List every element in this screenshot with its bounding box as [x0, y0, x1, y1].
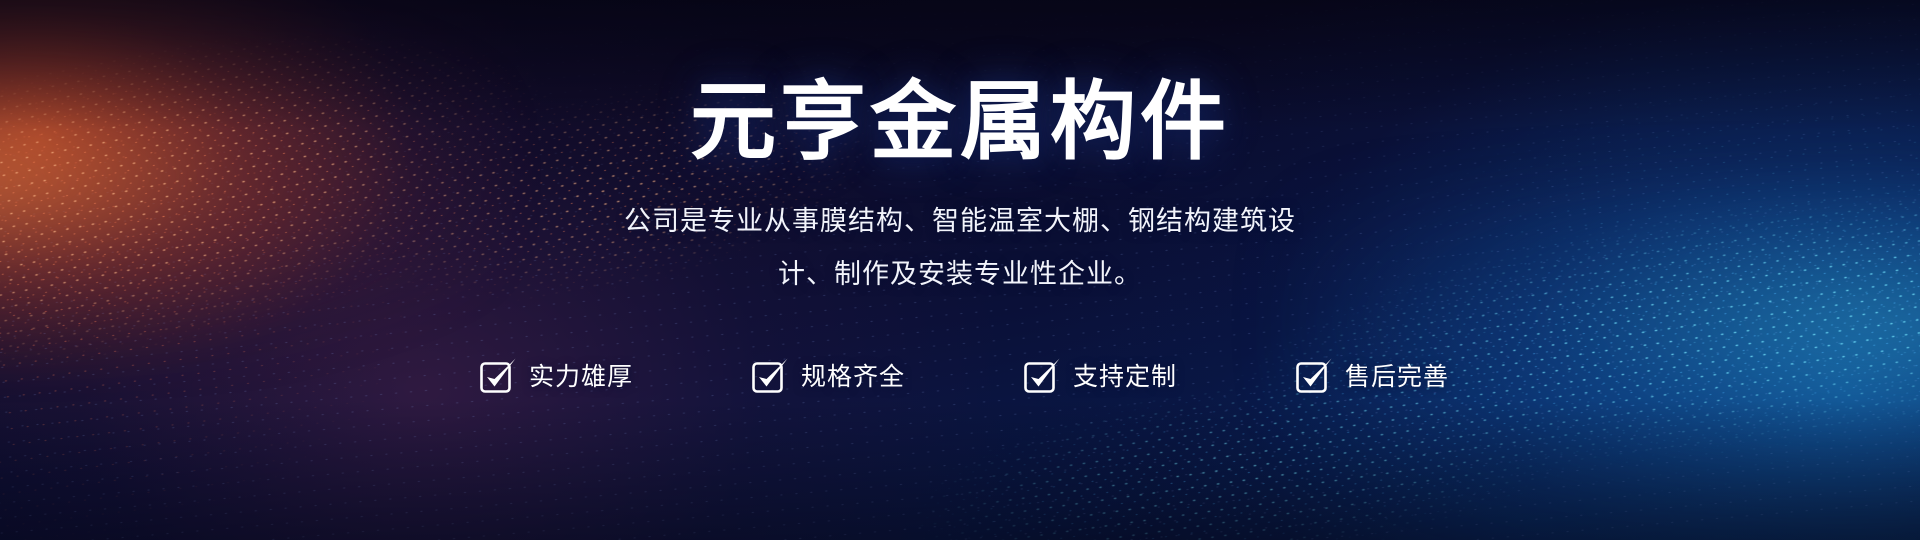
feature-label: 支持定制 [1073, 357, 1177, 393]
checkbox-check-icon [751, 356, 789, 394]
checkbox-check-icon [1295, 356, 1333, 394]
checkbox-check-icon [479, 356, 517, 394]
page-title: 元亨金属构件 [690, 0, 1230, 169]
subtitle-line-2: 计、制作及安装专业性企业。 [495, 248, 1425, 301]
hero-banner: 元亨金属构件 公司是专业从事膜结构、智能温室大棚、钢结构建筑设 计、制作及安装专… [0, 0, 1920, 540]
feature-label: 规格齐全 [801, 357, 905, 393]
feature-item-specifications[interactable]: 规格齐全 [751, 356, 905, 394]
banner-content: 元亨金属构件 公司是专业从事膜结构、智能温室大棚、钢结构建筑设 计、制作及安装专… [0, 0, 1920, 540]
feature-label: 实力雄厚 [529, 357, 633, 393]
feature-label: 售后完善 [1345, 357, 1449, 393]
subtitle-line-1: 公司是专业从事膜结构、智能温室大棚、钢结构建筑设 [495, 195, 1425, 248]
feature-item-strength[interactable]: 实力雄厚 [479, 356, 633, 394]
feature-list: 实力雄厚 规格齐全 支持定制 [471, 300, 1449, 394]
checkbox-check-icon [1023, 356, 1061, 394]
feature-item-after-sales[interactable]: 售后完善 [1295, 356, 1449, 394]
banner-subtitle: 公司是专业从事膜结构、智能温室大棚、钢结构建筑设 计、制作及安装专业性企业。 [495, 169, 1425, 300]
feature-item-customization[interactable]: 支持定制 [1023, 356, 1177, 394]
